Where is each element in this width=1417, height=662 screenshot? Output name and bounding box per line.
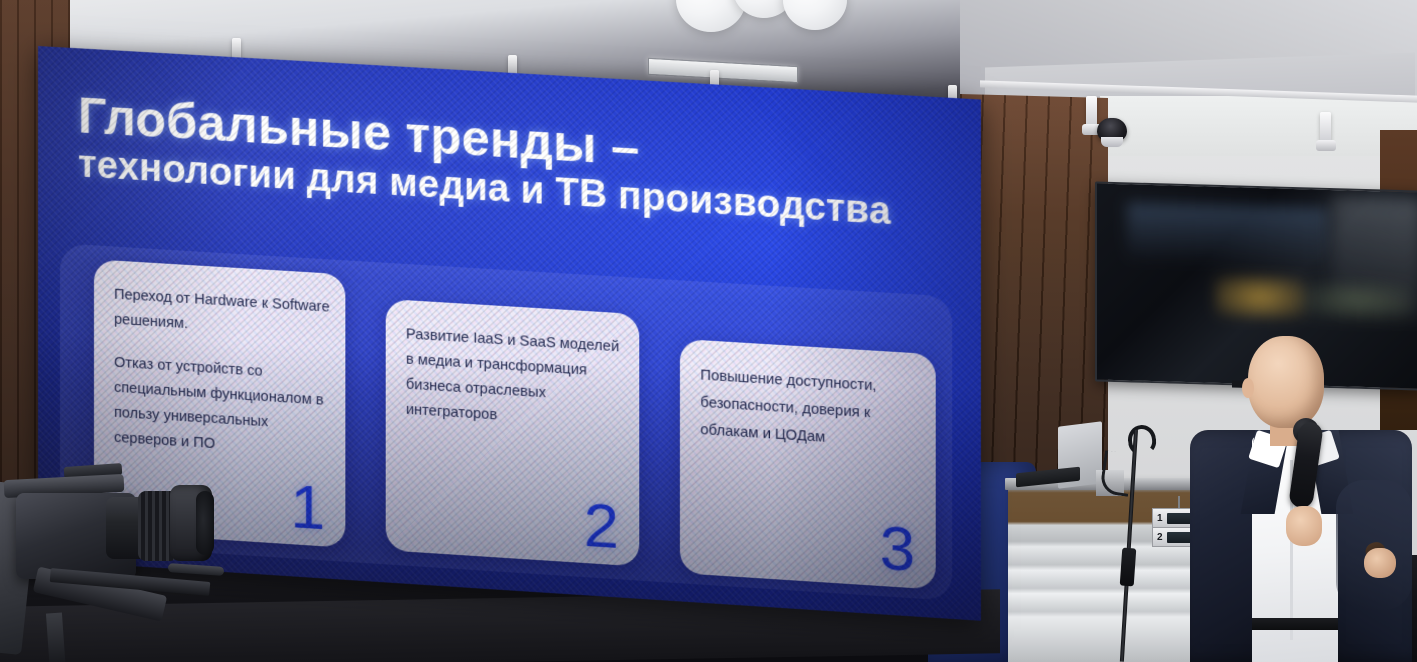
- conference-room-scene: 1 2 Глобальные тренды – технологии для м…: [0, 0, 1417, 662]
- slide-card-paragraph: Переход от Hardware к Software решениям.: [114, 283, 333, 346]
- tv-reflection: [1302, 281, 1412, 320]
- slide-title: Глобальные тренды – технологии для медиа…: [78, 88, 899, 234]
- right-hand: [1364, 548, 1396, 578]
- belt: [1252, 618, 1338, 630]
- camera-support-rod: [168, 563, 224, 576]
- video-camera-rig: [0, 455, 240, 662]
- slide-card-paragraph: Отказ от устройств со специальным функци…: [114, 351, 333, 465]
- head: [1248, 336, 1324, 428]
- mic-stand-joint: [1120, 548, 1137, 587]
- slide-card-number: 1: [290, 476, 325, 540]
- receiver-channel-label: 2: [1157, 532, 1163, 543]
- wall-upper-strip: [1100, 96, 1417, 156]
- track-spotlight-icon: [1320, 112, 1331, 142]
- slide-card: Развитие IaaS и SaaS моделей в медиа и т…: [386, 299, 640, 567]
- track-spotlight-icon: [1086, 96, 1097, 126]
- slide-card-text: Переход от Hardware к Software решениям.…: [114, 283, 333, 483]
- slide-card: Повышение доступности, безопасности, дов…: [680, 339, 936, 590]
- presenter: [1186, 330, 1416, 662]
- tv-reflection: [1215, 275, 1305, 320]
- hand-holding-microphone: [1286, 506, 1322, 546]
- slide-card-paragraph: Повышение доступности, безопасности, дов…: [700, 362, 923, 458]
- slide-card-text: Повышение доступности, безопасности, дов…: [700, 362, 923, 476]
- tripod-leg: [46, 613, 66, 662]
- ear: [1242, 378, 1254, 398]
- slide-card-number: 2: [584, 494, 619, 559]
- slide-card-paragraph: Развитие IaaS и SaaS моделей в медиа и т…: [406, 322, 627, 436]
- camera-lens-front-element: [196, 491, 214, 555]
- dome-security-camera-icon: [1097, 118, 1127, 141]
- receiver-channel-label: 1: [1157, 513, 1163, 524]
- slide-card-text: Развитие IaaS и SaaS моделей в медиа и т…: [406, 322, 627, 454]
- tv-reflection: [1127, 202, 1327, 268]
- slide-card-number: 3: [880, 517, 915, 582]
